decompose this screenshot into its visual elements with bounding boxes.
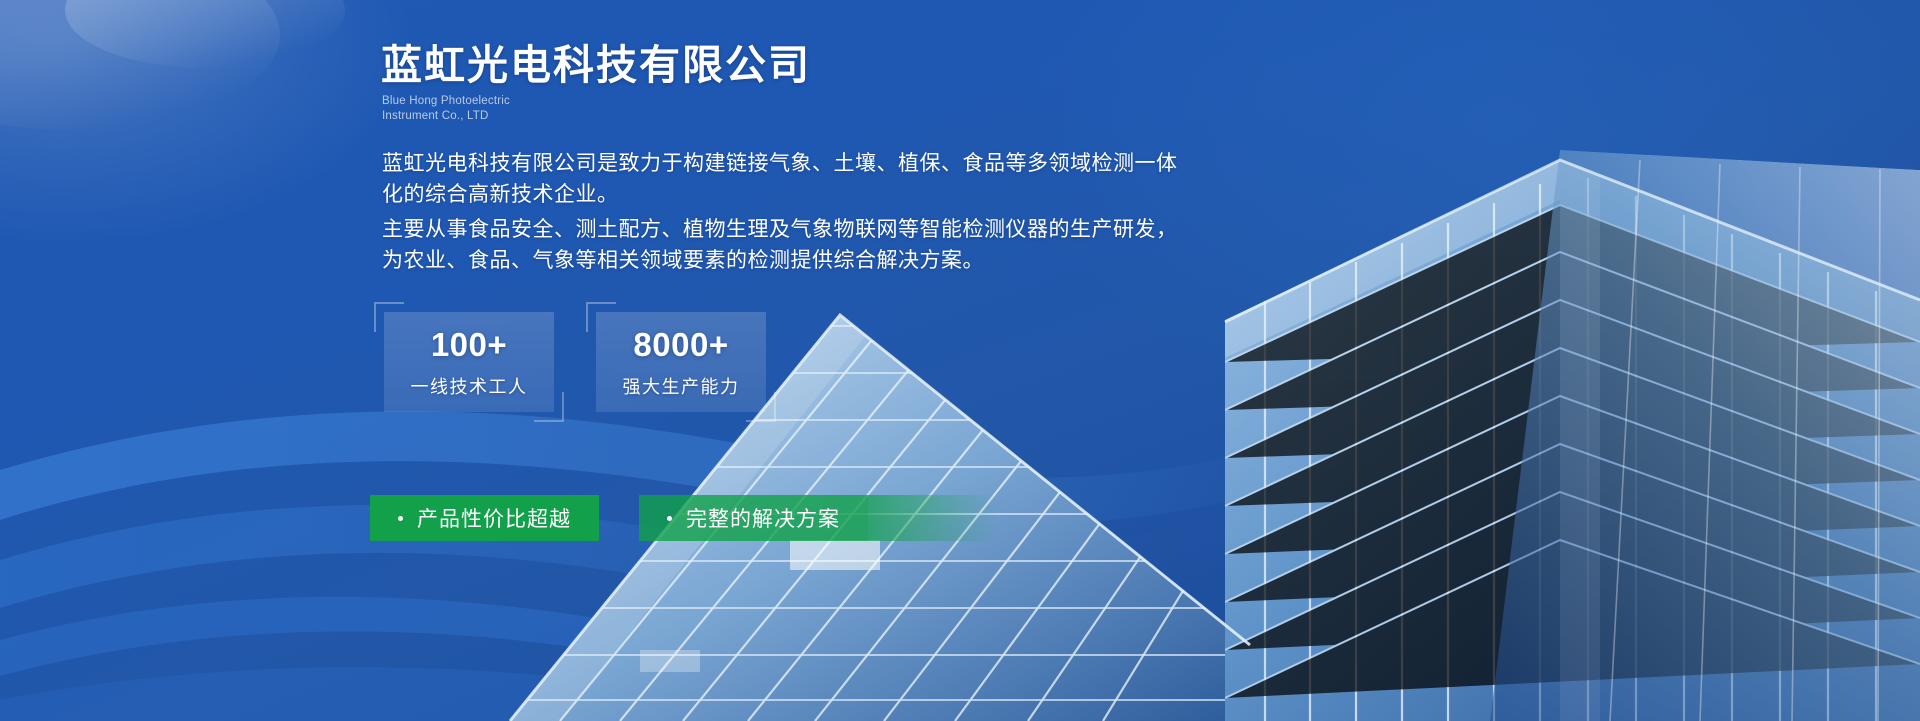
feature-tag-label: 产品性价比超越 [417, 503, 571, 533]
feature-tag-label: 完整的解决方案 [686, 503, 840, 533]
feature-tag-solution: 完整的解决方案 [639, 495, 868, 541]
company-name-en: Blue Hong Photoelectric Instrument Co., … [382, 94, 510, 123]
banner-content: 蓝虹光电科技有限公司 Blue Hong Photoelectric Instr… [0, 0, 1920, 721]
intro-paragraph-2-line-2: 为农业、食品、气象等相关领域要素的检测提供综合解决方案。 [382, 245, 1182, 276]
company-name-en-line1: Blue Hong Photoelectric [382, 94, 510, 109]
company-name-en-line2: Instrument Co., LTD [382, 109, 510, 124]
bullet-dot-icon [667, 516, 672, 521]
corner-accent-top-left-icon [374, 302, 404, 332]
feature-tag-group: 产品性价比超越 完整的解决方案 [370, 495, 998, 541]
tag-fade-tail [868, 495, 998, 541]
hero-banner: 蓝虹光电科技有限公司 Blue Hong Photoelectric Instr… [0, 0, 1920, 721]
corner-accent-top-left-icon [586, 302, 616, 332]
intro-paragraph-1-line-2: 化的综合高新技术企业。 [382, 179, 1182, 210]
stat-card-workers: 100+ 一线技术工人 [384, 312, 554, 412]
stat-label: 强大生产能力 [623, 373, 740, 399]
stats-group: 100+ 一线技术工人 8000+ 强大生产能力 [384, 312, 766, 412]
feature-tag-value: 产品性价比超越 [370, 495, 599, 541]
intro-paragraph-2: 主要从事食品安全、测土配方、植物生理及气象物联网等智能检测仪器的生产研发， 为农… [382, 214, 1182, 276]
corner-accent-bottom-right-icon [746, 392, 776, 422]
stat-card-capacity: 8000+ 强大生产能力 [596, 312, 766, 412]
stat-value: 8000+ [633, 325, 728, 365]
company-name-cn: 蓝虹光电科技有限公司 [381, 42, 811, 89]
intro-paragraph-1: 蓝虹光电科技有限公司是致力于构建链接气象、土壤、植保、食品等多领域检测一体 化的… [382, 148, 1182, 210]
intro-paragraph-1-line-1: 蓝虹光电科技有限公司是致力于构建链接气象、土壤、植保、食品等多领域检测一体 [382, 148, 1182, 179]
stat-value: 100+ [431, 325, 507, 365]
intro-paragraph-2-line-1: 主要从事食品安全、测土配方、植物生理及气象物联网等智能检测仪器的生产研发， [382, 214, 1182, 245]
corner-accent-bottom-right-icon [534, 392, 564, 422]
bullet-dot-icon [398, 516, 403, 521]
tag-spacer [599, 495, 639, 541]
stat-label: 一线技术工人 [411, 373, 528, 399]
